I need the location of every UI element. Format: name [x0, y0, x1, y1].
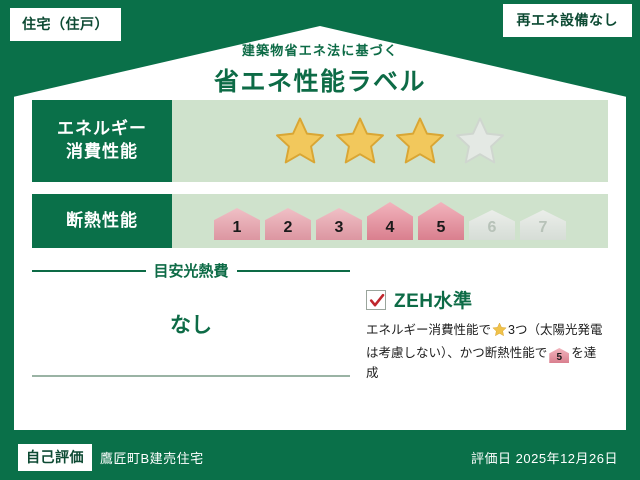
insulation-chip-1: 1	[214, 208, 260, 240]
building-name: 鷹匠町B建売住宅	[100, 448, 204, 467]
evaluation-type-badge: 自己評価	[18, 444, 92, 471]
zeh-desc-part2: 3つ（太陽光発電	[508, 323, 602, 337]
title-subtitle: 建築物省エネ法に基づく	[0, 40, 640, 59]
inline-insulation-chip: 5	[549, 348, 569, 363]
zeh-desc-part1: エネルギー消費性能で	[366, 323, 491, 337]
title-main: 省エネ性能ラベル	[0, 62, 640, 98]
zeh-description: エネルギー消費性能で3つ（太陽光発電は考慮しない）、かつ断熱性能で5を達成	[366, 320, 608, 383]
energy-cost-heading-text: 目安光熱費	[154, 260, 229, 281]
star-icon-filled	[334, 115, 386, 167]
energy-performance-row: エネルギー 消費性能	[32, 100, 608, 182]
insulation-chip-3: 3	[316, 208, 362, 240]
zeh-desc-part3: は考慮しない）、かつ断熱性能で	[366, 346, 547, 360]
insulation-chip-4: 4	[367, 202, 413, 240]
energy-label-line1: エネルギー	[57, 118, 147, 141]
star-icon-filled	[274, 115, 326, 167]
insulation-chip-7: 7	[520, 210, 566, 240]
badge-renewable-equipment: 再エネ設備なし	[503, 4, 633, 37]
energy-performance-value	[172, 100, 608, 182]
energy-cost-value: なし	[32, 281, 350, 369]
star-icon-empty	[454, 115, 506, 167]
insulation-performance-label: 断熱性能	[32, 194, 172, 248]
evaluation-date: 評価日 2025年12月26日	[471, 448, 618, 467]
insulation-label-text: 断熱性能	[66, 210, 138, 233]
star-icon-filled	[394, 115, 446, 167]
insulation-performance-value: 1234567	[172, 194, 608, 248]
zeh-heading: ZEH水準	[366, 286, 608, 313]
insulation-chip-6: 6	[469, 210, 515, 240]
label-content: エネルギー 消費性能 断熱性能 1234567 目安光熱費 なし	[32, 100, 608, 383]
energy-cost-heading: 目安光熱費	[32, 260, 350, 281]
insulation-performance-row: 断熱性能 1234567	[32, 194, 608, 248]
zeh-checkbox[interactable]	[366, 290, 386, 310]
zeh-title: ZEH水準	[394, 286, 473, 313]
divider-line	[32, 375, 350, 377]
energy-label-line2: 消費性能	[66, 141, 138, 164]
lower-section: 目安光熱費 なし ZEH水準 エネルギー消費性能で3つ（太陽光発電は考慮しない）…	[32, 260, 608, 383]
rule-right	[237, 270, 351, 272]
star-rating	[274, 115, 506, 167]
insulation-chip-2: 2	[265, 208, 311, 240]
zeh-section: ZEH水準 エネルギー消費性能で3つ（太陽光発電は考慮しない）、かつ断熱性能で5…	[350, 260, 608, 383]
energy-cost-section: 目安光熱費 なし	[32, 260, 350, 383]
footer-left: 自己評価 鷹匠町B建売住宅	[18, 444, 204, 471]
insulation-chip-scale: 1234567	[214, 202, 566, 240]
page-title: 建築物省エネ法に基づく 省エネ性能ラベル	[0, 40, 640, 98]
inline-star-icon	[492, 322, 507, 343]
footer-bar: 自己評価 鷹匠町B建売住宅 評価日 2025年12月26日	[0, 434, 640, 480]
rule-left	[32, 270, 146, 272]
badge-building-type: 住宅（住戸）	[10, 8, 121, 41]
insulation-chip-5: 5	[418, 202, 464, 240]
energy-performance-label: エネルギー 消費性能	[32, 100, 172, 182]
check-icon	[369, 293, 385, 309]
